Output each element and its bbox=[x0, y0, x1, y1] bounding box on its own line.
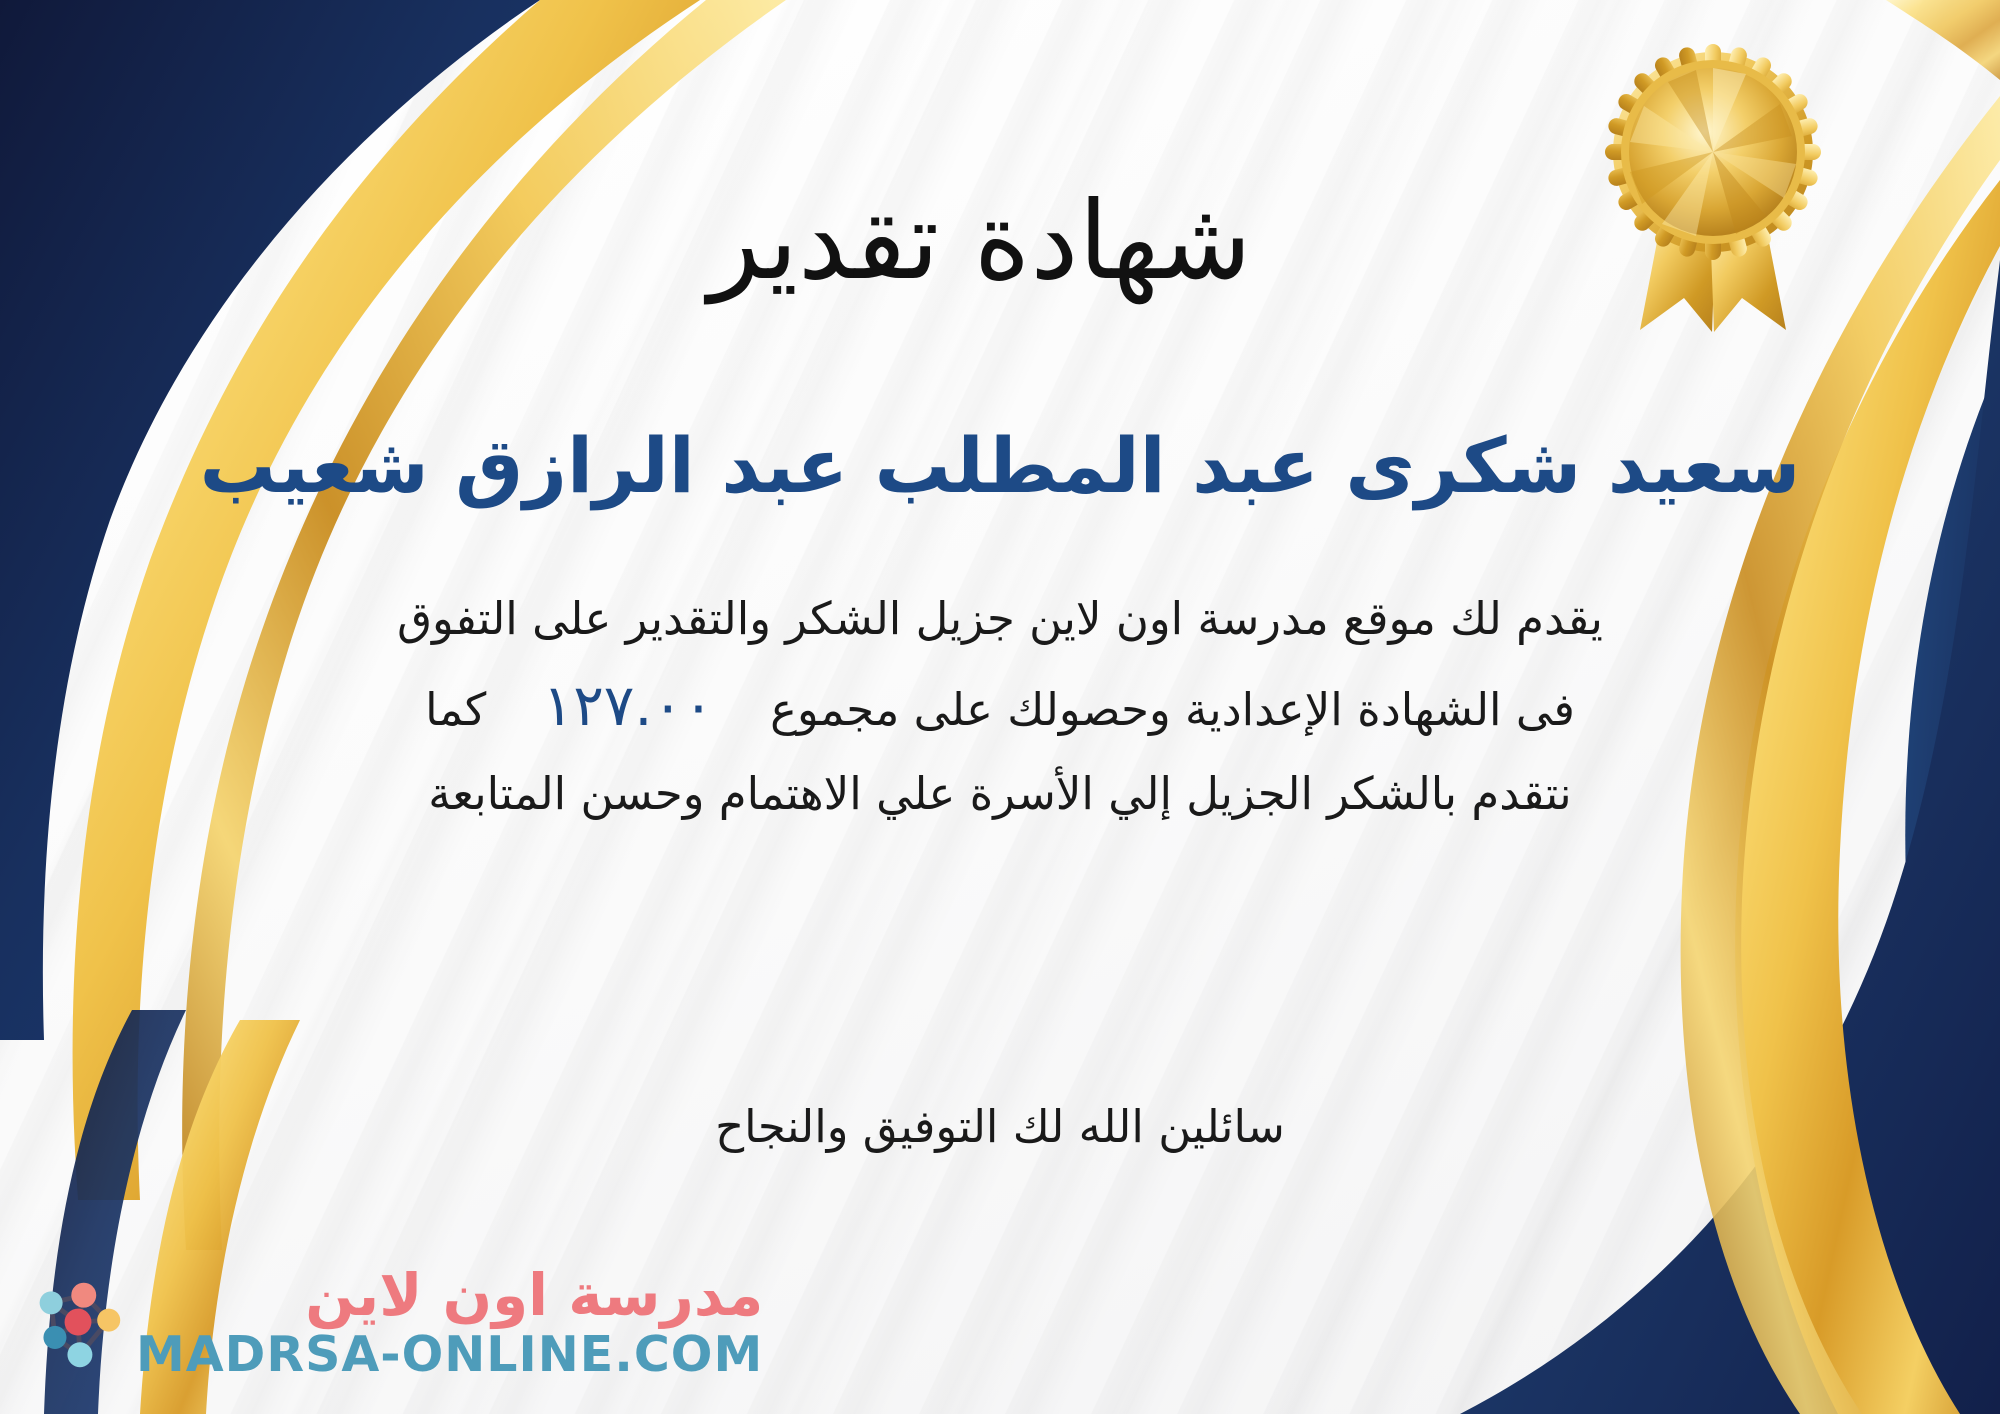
gold-medal-ribbon-icon bbox=[1584, 44, 1842, 334]
certificate-page: شهادة تقدير سعيد شكرى عبد المطلب عبد الر… bbox=[0, 0, 2000, 1414]
brand-text-block: مدرسة اون لاين MADRSA-ONLINE.COM bbox=[136, 1265, 763, 1382]
body-line-2-suffix: كما bbox=[425, 683, 486, 736]
body-line-2-prefix: فى الشهادة الإعدادية وحصولك على مجموع bbox=[770, 683, 1575, 736]
network-nodes-icon bbox=[30, 1276, 126, 1372]
certificate-body-text: يقدم لك موقع مدرسة اون لاين جزيل الشكر و… bbox=[150, 580, 1850, 833]
body-line-1: يقدم لك موقع مدرسة اون لاين جزيل الشكر و… bbox=[150, 580, 1850, 657]
closing-wish-line: سائلين الله لك التوفيق والنجاح bbox=[150, 1100, 1850, 1153]
body-line-2: فى الشهادة الإعدادية وحصولك على مجموع ١٢… bbox=[150, 657, 1850, 755]
body-line-3: نتقدم بالشكر الجزيل إلي الأسرة علي الاهت… bbox=[150, 755, 1850, 832]
recipient-name: سعيد شكرى عبد المطلب عبد الرازق شعيب bbox=[0, 418, 2000, 513]
brand-website-url: MADRSA-ONLINE.COM bbox=[136, 1328, 763, 1382]
certificate-title: شهادة تقدير bbox=[600, 182, 1360, 303]
total-score-value: ١٢٧.٠٠ bbox=[501, 673, 756, 739]
brand-arabic-name: مدرسة اون لاين bbox=[305, 1265, 763, 1326]
brand-logo: مدرسة اون لاين MADRSA-ONLINE.COM bbox=[30, 1265, 763, 1382]
